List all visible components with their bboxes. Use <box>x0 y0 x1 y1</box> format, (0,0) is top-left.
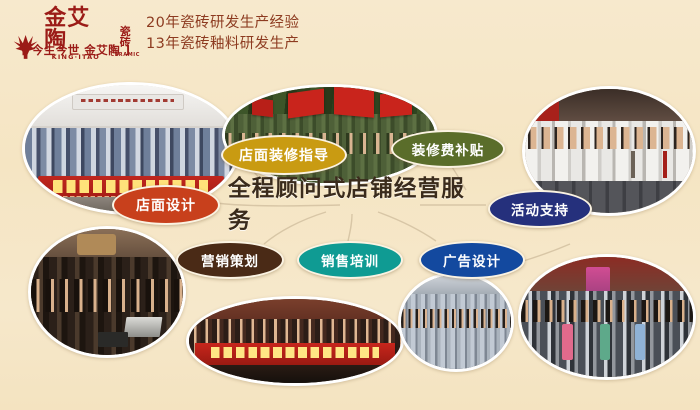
photo-laptop-workshop[interactable] <box>28 226 186 358</box>
photo-seated-staff-image <box>401 275 511 369</box>
badge-sales-training[interactable]: 销售培训 <box>297 241 403 279</box>
badge-marketing-plan[interactable]: 营销策划 <box>176 241 284 279</box>
badge-shop-design[interactable]: 店面设计 <box>112 185 220 225</box>
badge-decor-subsidy[interactable]: 装修费补贴 <box>391 130 505 168</box>
badge-decor-guide[interactable]: 店面装修指导 <box>221 135 347 175</box>
promo-banner: 金艾陶 KING·ITAO 瓷 砖 CERAMIC [ 今生今世 金艾陶 ] 2… <box>0 0 700 410</box>
photo-laptop-workshop-image <box>31 229 183 355</box>
header-claim-1: 20年瓷砖研发生产经验 <box>146 13 299 34</box>
banner-header: 金艾陶 KING·ITAO 瓷 砖 CERAMIC [ 今生今世 金艾陶 ] 2… <box>0 0 700 72</box>
badge-ad-design[interactable]: 广告设计 <box>419 241 525 279</box>
photo-training-assembly[interactable] <box>186 296 404 386</box>
photo-training-banner-text <box>195 343 394 365</box>
brand-slogan: [ 今生今世 金艾陶 ] <box>10 42 142 58</box>
photo-seated-staff[interactable] <box>398 272 514 372</box>
photo-event-crowd[interactable] <box>518 254 696 380</box>
header-claim-2: 13年瓷砖釉料研发生产 <box>146 34 299 55</box>
header-claims: 20年瓷砖研发生产经验 13年瓷砖釉料研发生产 <box>146 13 299 55</box>
main-title: 全程顾问式店铺经营服务 <box>228 188 486 218</box>
badge-event-support[interactable]: 活动支持 <box>488 190 592 228</box>
photo-training-assembly-image <box>189 299 401 383</box>
photo-event-crowd-image <box>521 257 693 377</box>
brand-logo[interactable]: 金艾陶 KING·ITAO 瓷 砖 CERAMIC [ 今生今世 金艾陶 ] <box>10 8 140 64</box>
